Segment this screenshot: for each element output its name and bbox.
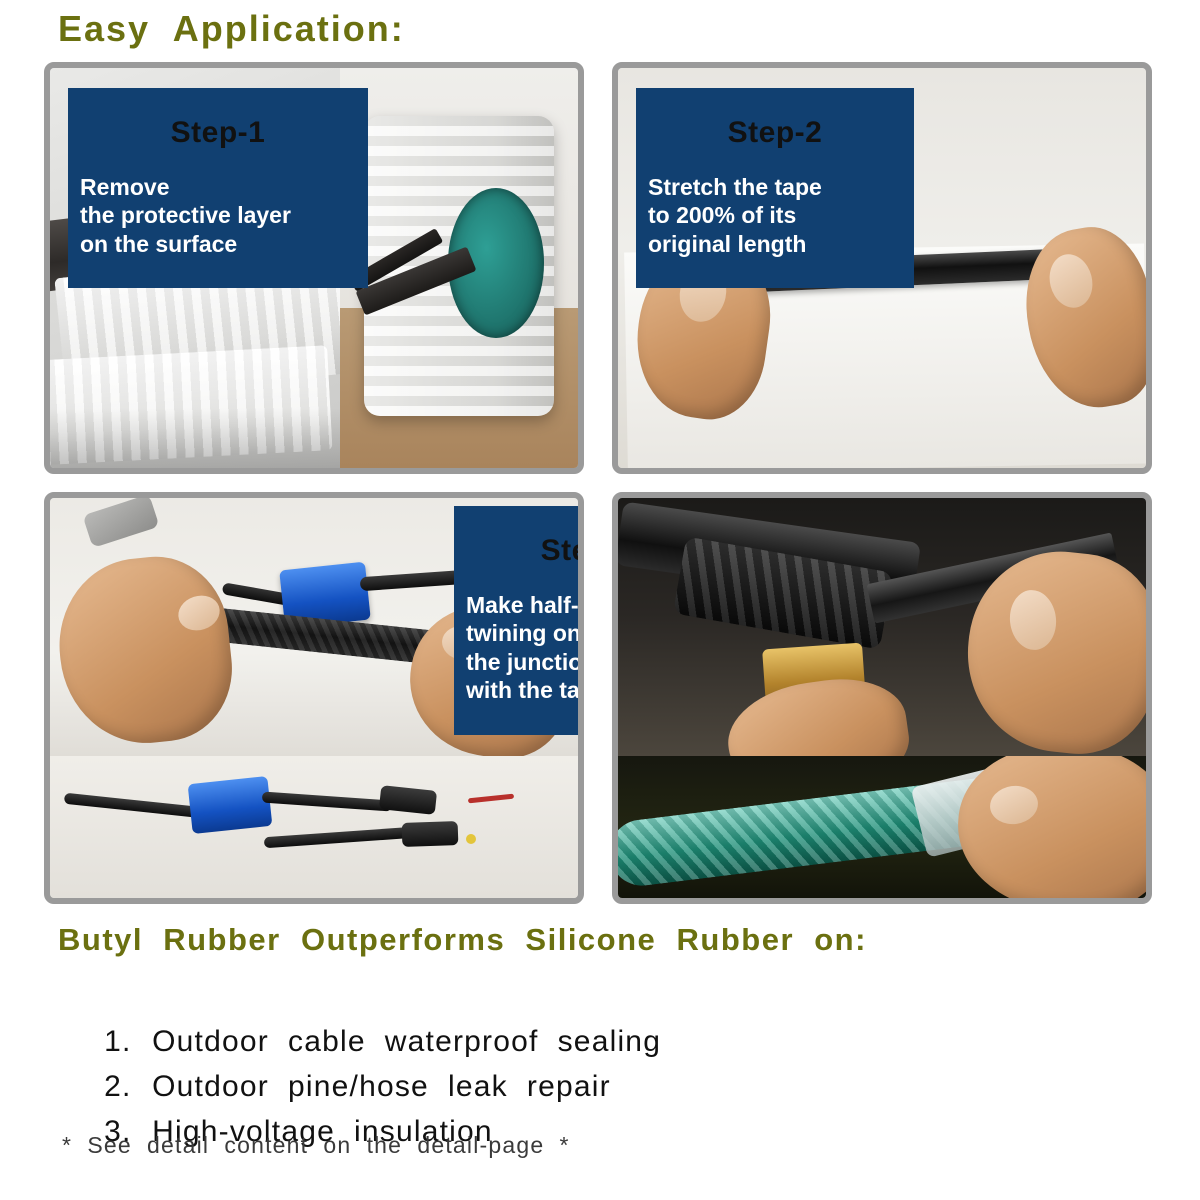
left-hand-shape <box>51 550 239 752</box>
step-2-panel: Step-2 Stretch the tape to 200% of its o… <box>612 62 1152 474</box>
footer-subtitle: Butyl Rubber Outperforms Silicone Rubber… <box>58 922 867 958</box>
step-2-label: Step-2 <box>648 114 902 151</box>
step-1-panel: Step-1 Remove the protective layer on th… <box>44 62 584 474</box>
wrapped-joint-shape-2 <box>402 821 459 847</box>
step-1-text: Remove the protective layer on the surfa… <box>80 173 356 259</box>
step-2-caption: Step-2 Stretch the tape to 200% of its o… <box>636 88 914 288</box>
left-hand-shape <box>721 670 915 756</box>
step-3-text: Make half-lapped twining on the junction… <box>466 591 584 705</box>
background-object-shape <box>82 498 159 548</box>
step-3-panel: Step-3 Make half-lapped twining on the j… <box>44 492 584 904</box>
step-1-label: Step-1 <box>80 114 356 151</box>
page-title: Easy Application: <box>58 8 405 50</box>
product-infographic: Easy Application: Step-1 Remove the prot… <box>0 0 1200 1200</box>
step-3-panel-continued <box>612 492 1152 904</box>
garden-hose-repair-photo <box>618 756 1146 898</box>
finished-cable-photo <box>50 756 578 898</box>
wire-shape-2 <box>262 791 392 811</box>
step-1-caption: Step-1 Remove the protective layer on th… <box>68 88 368 288</box>
step-2-text: Stretch the tape to 200% of its original… <box>648 173 902 259</box>
hose-wrapping-photo <box>618 498 1146 756</box>
blue-connector-shape <box>188 776 273 834</box>
step-3-label: Step-3 <box>466 532 584 569</box>
yellow-marker-shape <box>466 834 476 844</box>
footer-note: * See detail content on the detail-page … <box>62 1132 570 1159</box>
wire-shape-3 <box>264 827 414 848</box>
wire-shape-1 <box>64 793 204 819</box>
photo-shadow <box>50 408 340 468</box>
step-3-caption: Step-3 Make half-lapped twining on the j… <box>454 506 584 735</box>
hand-shape <box>953 756 1146 898</box>
red-wire-shape <box>468 794 514 804</box>
tape-coil-photo <box>340 68 578 468</box>
